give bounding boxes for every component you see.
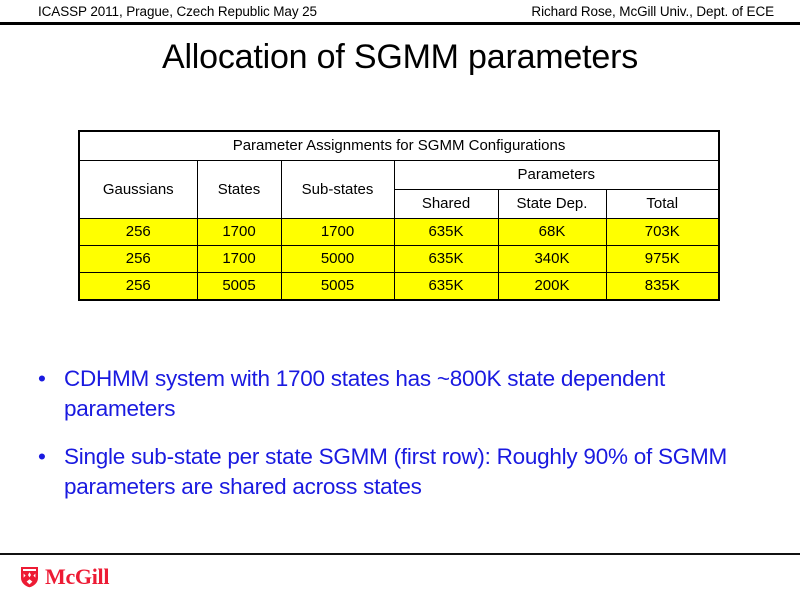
list-item-text: CDHMM system with 1700 states has ~800K … [64, 364, 766, 424]
header-conference-info: ICASSP 2011, Prague, Czech Republic May … [38, 4, 317, 19]
cell-total: 703K [606, 219, 719, 246]
cell-sub-states: 1700 [281, 219, 394, 246]
header-cell-shared: Shared [394, 190, 498, 219]
cell-state-dep: 68K [498, 219, 606, 246]
table-caption-cell: Parameter Assignments for SGMM Configura… [79, 131, 719, 161]
header-cell-parameters-group: Parameters [394, 161, 719, 190]
header-cell-states: States [197, 161, 281, 219]
parameter-assignments-table: Parameter Assignments for SGMM Configura… [78, 130, 720, 301]
cell-gaussians: 256 [79, 246, 197, 273]
parameter-table-container: Parameter Assignments for SGMM Configura… [78, 130, 718, 301]
cell-states: 1700 [197, 219, 281, 246]
cell-state-dep: 200K [498, 273, 606, 301]
cell-shared: 635K [394, 273, 498, 301]
cell-shared: 635K [394, 246, 498, 273]
bullet-marker-icon: • [38, 442, 46, 472]
header-divider [0, 22, 800, 25]
cell-total: 975K [606, 246, 719, 273]
list-item: • CDHMM system with 1700 states has ~800… [26, 364, 766, 424]
header-author-info: Richard Rose, McGill Univ., Dept. of ECE [531, 4, 774, 19]
cell-gaussians: 256 [79, 219, 197, 246]
cell-sub-states: 5005 [281, 273, 394, 301]
header-cell-sub-states: Sub-states [281, 161, 394, 219]
bullet-list: • CDHMM system with 1700 states has ~800… [26, 364, 766, 502]
table-header-row-primary: Gaussians States Sub-states Parameters [79, 161, 719, 190]
table-row: 256 5005 5005 635K 200K 835K [79, 273, 719, 301]
cell-state-dep: 340K [498, 246, 606, 273]
cell-sub-states: 5000 [281, 246, 394, 273]
bullet-marker-icon: • [38, 364, 46, 394]
mcgill-shield-icon [20, 566, 39, 588]
list-item-text: Single sub-state per state SGMM (first r… [64, 442, 766, 502]
mcgill-wordmark: McGill [45, 566, 109, 588]
cell-total: 835K [606, 273, 719, 301]
cell-states: 5005 [197, 273, 281, 301]
header-cell-total: Total [606, 190, 719, 219]
table-row: 256 1700 1700 635K 68K 703K [79, 219, 719, 246]
cell-shared: 635K [394, 219, 498, 246]
cell-gaussians: 256 [79, 273, 197, 301]
cell-states: 1700 [197, 246, 281, 273]
table-caption-row: Parameter Assignments for SGMM Configura… [79, 131, 719, 161]
page-title: Allocation of SGMM parameters [0, 38, 800, 77]
header-cell-state-dep: State Dep. [498, 190, 606, 219]
footer-divider [0, 553, 800, 555]
table-row: 256 1700 5000 635K 340K 975K [79, 246, 719, 273]
header-cell-gaussians: Gaussians [79, 161, 197, 219]
mcgill-logo: McGill [20, 566, 109, 588]
slide-header: ICASSP 2011, Prague, Czech Republic May … [0, 0, 800, 24]
list-item: • Single sub-state per state SGMM (first… [26, 442, 766, 502]
